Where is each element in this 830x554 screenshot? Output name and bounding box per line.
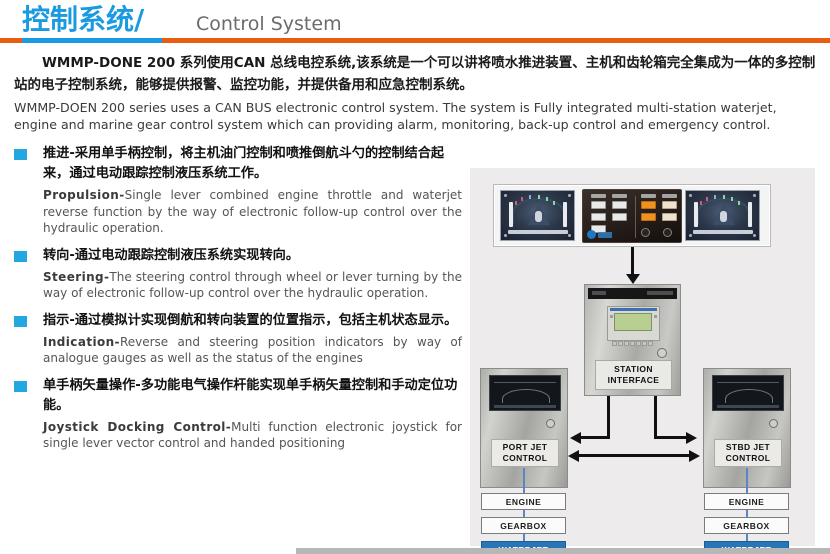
connector-station-to-port: [607, 396, 610, 438]
bullet-square-icon: [14, 149, 27, 160]
port-engine-label: ENGINE: [506, 497, 542, 507]
feature-text-en: Propulsion-Single lever combined engine …: [43, 187, 462, 237]
header-rule-blue: [22, 38, 162, 43]
stbd-gearbox-label: GEARBOX: [723, 521, 769, 531]
feature-item-indication: 指示-通过模拟计实现倒航和转向装置的位置指示，包括主机状态显示。 Indicat…: [10, 311, 462, 367]
station-interface-label: STATION INTERFACE: [595, 360, 672, 390]
connector-port-stbd-bidirectional: [578, 454, 691, 457]
control-system-diagram: STATION INTERFACE PORT JET: [470, 168, 815, 546]
bullet-square-icon: [14, 316, 27, 327]
footer-bar: [296, 548, 830, 554]
page-header: 控制系统/ Control System: [0, 0, 830, 48]
feature-title-cn: 转向-通过电动跟踪控制液压系统实现转向。: [43, 246, 462, 266]
feature-item-joystick: 单手柄矢量操作-多功能电气操作杆能实现单手柄矢量控制和手动定位功能。 Joyst…: [10, 376, 462, 452]
status-led-icon: [769, 419, 778, 428]
feature-text-en: Indication-Reverse and steering position…: [43, 334, 462, 367]
feature-item-propulsion: 推进-采用单手柄控制，将主机油门控制和喷推倒航斗勺的控制结合起来，通过电动跟踪控…: [10, 144, 462, 237]
stbd-label-text: STBD JET CONTROL: [726, 442, 771, 464]
feature-term-en: Joystick Docking Control-: [43, 420, 231, 434]
station-label-line1: STATION: [614, 364, 653, 374]
port-label-text: PORT JET CONTROL: [503, 442, 548, 464]
intro-paragraph-cn: WMMP-DONE 200 系列使用CAN 总线电控系统,该系统是一个可以讲将喷…: [14, 52, 820, 96]
connector-station-to-port-h: [581, 436, 610, 439]
lever-gauge-left-icon: [500, 190, 575, 241]
feature-title-cn: 推进-采用单手柄控制，将主机油门控制和喷推倒航斗勺的控制结合起来，通过电动跟踪控…: [43, 144, 462, 184]
arrow-left-icon: [568, 450, 579, 462]
port-gearbox-label: GEARBOX: [500, 521, 546, 531]
arrow-right-icon: [686, 432, 697, 444]
feature-text-en: Joystick Docking Control-Multi function …: [43, 419, 462, 452]
jet-display-screen-icon: [712, 375, 784, 411]
status-led-icon: [546, 419, 555, 428]
status-led-icon: [657, 348, 667, 358]
port-jet-label: PORT JET CONTROL: [491, 439, 559, 467]
jet-display-screen-icon: [489, 375, 561, 411]
bullet-square-icon: [14, 251, 27, 262]
cabinet-top-bar: [588, 288, 677, 299]
connector-console-to-station: [631, 247, 634, 275]
stbd-label-line1: STBD JET: [726, 442, 770, 452]
stbd-engine-label: ENGINE: [729, 497, 765, 507]
hmi-display-unit-icon: [607, 306, 660, 341]
port-label-line1: PORT JET: [503, 442, 548, 452]
feature-title-cn: 单手柄矢量操作-多功能电气操作杆能实现单手柄矢量控制和手动定位功能。: [43, 376, 462, 416]
feature-term-en: Steering-: [43, 270, 109, 284]
feature-list: 推进-采用单手柄控制，将主机油门控制和喷推倒航斗勺的控制结合起来，通过电动跟踪控…: [10, 144, 462, 461]
feature-title-cn: 指示-通过模拟计实现倒航和转向装置的位置指示，包括主机状态显示。: [43, 311, 462, 331]
stbd-engine-box: ENGINE: [704, 493, 789, 510]
slide-page: 控制系统/ Control System WMMP-DONE 200 系列使用C…: [0, 0, 830, 554]
stbd-jet-label: STBD JET CONTROL: [714, 439, 782, 467]
intro-block: WMMP-DONE 200 系列使用CAN 总线电控系统,该系统是一个可以讲将喷…: [14, 52, 820, 133]
port-gearbox-box: GEARBOX: [481, 517, 566, 534]
bridge-console-strip: [493, 184, 771, 247]
port-label-line2: CONTROL: [503, 453, 548, 463]
feature-item-steering: 转向-通过电动跟踪控制液压系统实现转向。 Steering-The steeri…: [10, 246, 462, 302]
station-interface-cabinet: STATION INTERFACE: [584, 284, 681, 396]
arrow-down-icon: [626, 274, 640, 284]
port-engine-box: ENGINE: [481, 493, 566, 510]
control-head-panel-icon: [582, 189, 682, 243]
feature-text-en: Steering-The steering control through wh…: [43, 269, 462, 302]
page-title-en: Control System: [196, 12, 342, 36]
arrow-right-icon: [689, 450, 700, 462]
connector-station-to-stbd: [654, 396, 657, 438]
arrow-left-icon: [570, 432, 581, 444]
feature-term-en: Propulsion-: [43, 188, 125, 202]
station-label-text: STATION INTERFACE: [608, 364, 660, 386]
page-title-cn: 控制系统/: [22, 4, 144, 36]
connector-station-to-stbd-h: [654, 436, 687, 439]
feature-term-en: Indication-: [43, 335, 120, 349]
station-label-line2: INTERFACE: [608, 375, 660, 385]
bullet-square-icon: [14, 381, 27, 392]
stbd-gearbox-box: GEARBOX: [704, 517, 789, 534]
stbd-label-line2: CONTROL: [726, 453, 771, 463]
lever-gauge-right-icon: [685, 190, 760, 241]
intro-paragraph-en: WMMP-DOEN 200 series uses a CAN BUS elec…: [14, 99, 820, 133]
